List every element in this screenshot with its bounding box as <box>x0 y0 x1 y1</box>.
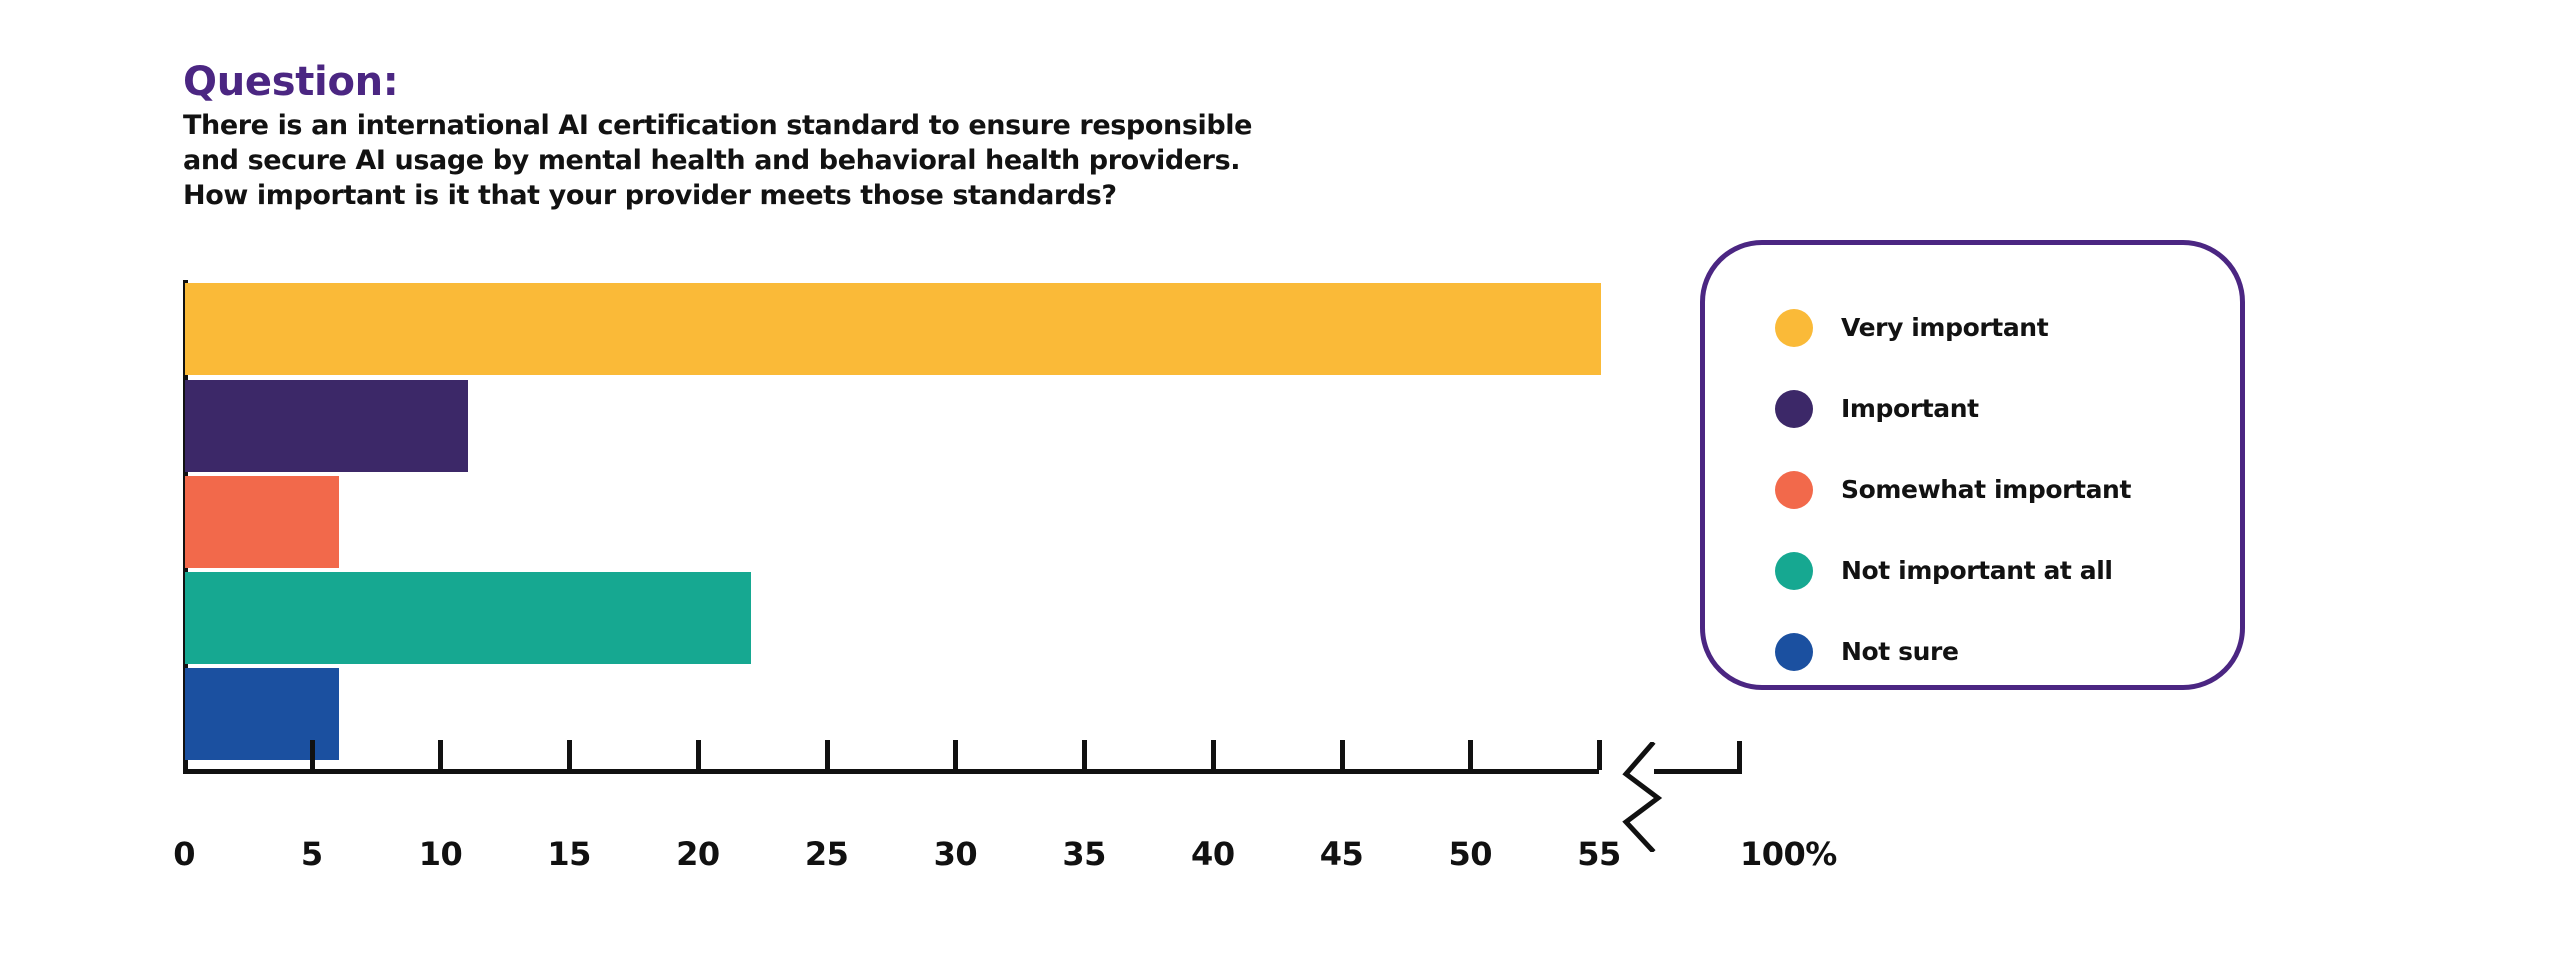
x-axis-tick-label-0: 0 <box>173 835 195 873</box>
x-axis-tick-45 <box>1340 740 1345 770</box>
bar-somewhat-important <box>185 476 339 568</box>
x-axis-tick-label-50: 50 <box>1449 835 1493 873</box>
legend-label: Very important <box>1841 313 2048 342</box>
x-axis-tick-label-35: 35 <box>1062 835 1106 873</box>
x-axis-tick-30 <box>953 740 958 770</box>
x-axis-tick-20 <box>696 740 701 770</box>
bar-not-sure <box>185 668 339 760</box>
legend-swatch-icon <box>1775 471 1813 509</box>
legend: Very importantImportantSomewhat importan… <box>1700 240 2245 690</box>
x-axis-max-label: 100% <box>1740 835 1837 873</box>
x-axis-tick-label-30: 30 <box>934 835 978 873</box>
legend-swatch-icon <box>1775 309 1813 347</box>
x-axis-tick-label-10: 10 <box>419 835 463 873</box>
x-axis-tick-label-45: 45 <box>1320 835 1364 873</box>
x-axis-tick-label-25: 25 <box>805 835 849 873</box>
legend-swatch-icon <box>1775 390 1813 428</box>
legend-item-1[interactable]: Important <box>1775 368 2245 449</box>
axis-break-icon <box>1614 742 1674 852</box>
bar-not-important-at-all <box>185 572 751 664</box>
x-axis-tick-55 <box>1597 740 1602 770</box>
legend-swatch-icon <box>1775 552 1813 590</box>
legend-item-3[interactable]: Not important at all <box>1775 530 2245 611</box>
legend-list: Very importantImportantSomewhat importan… <box>1775 287 2245 692</box>
x-axis-tick-label-5: 5 <box>301 835 323 873</box>
legend-swatch-icon <box>1775 633 1813 671</box>
x-axis-tick-10 <box>438 740 443 770</box>
legend-item-4[interactable]: Not sure <box>1775 611 2245 692</box>
x-axis-tick-label-40: 40 <box>1191 835 1235 873</box>
x-axis-tick-15 <box>567 740 572 770</box>
x-axis-tick-25 <box>825 740 830 770</box>
x-axis-tick-50 <box>1468 740 1473 770</box>
legend-label: Important <box>1841 394 1979 423</box>
x-axis-tick-5 <box>310 740 315 770</box>
bar-very-important <box>185 283 1601 375</box>
legend-label: Not important at all <box>1841 556 2113 585</box>
x-axis-line <box>183 769 1599 774</box>
x-axis-tick-label-20: 20 <box>676 835 720 873</box>
legend-item-2[interactable]: Somewhat important <box>1775 449 2245 530</box>
legend-item-0[interactable]: Very important <box>1775 287 2245 368</box>
x-axis-tick-label-15: 15 <box>547 835 591 873</box>
x-axis-end-cap <box>1737 741 1742 774</box>
legend-label: Somewhat important <box>1841 475 2131 504</box>
x-axis-tick-40 <box>1211 740 1216 770</box>
legend-label: Not sure <box>1841 637 1959 666</box>
x-axis-tick-35 <box>1082 740 1087 770</box>
bar-important <box>185 380 468 472</box>
